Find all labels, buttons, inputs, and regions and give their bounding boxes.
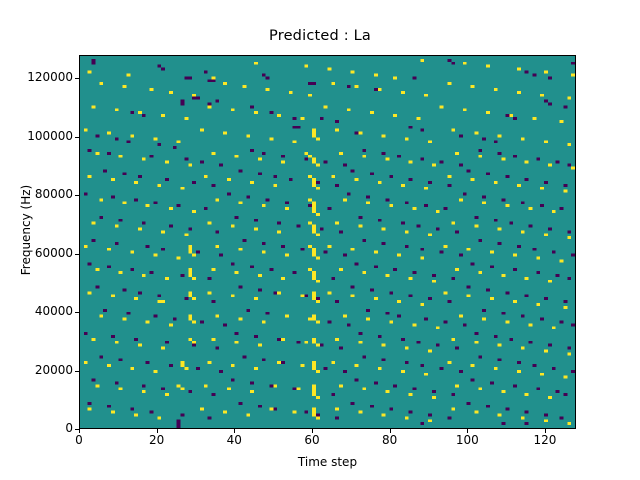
y-tick-label: 120000 <box>3 71 73 83</box>
x-tick-label: 120 <box>515 434 575 446</box>
y-tick-mark <box>75 371 79 372</box>
y-axis-label: Frequency (Hz) <box>19 70 33 390</box>
x-tick-mark <box>234 429 235 433</box>
y-tick-label: 80000 <box>3 188 73 200</box>
x-tick-label: 100 <box>437 434 497 446</box>
x-tick-label: 40 <box>204 434 264 446</box>
x-tick-label: 0 <box>49 434 109 446</box>
x-tick-label: 80 <box>360 434 420 446</box>
x-tick-mark <box>312 429 313 433</box>
y-tick-label: 40000 <box>3 305 73 317</box>
x-tick-mark <box>79 429 80 433</box>
x-tick-mark <box>390 429 391 433</box>
heatmap-image[interactable] <box>80 56 575 428</box>
y-tick-mark <box>75 137 79 138</box>
y-tick-label: 20000 <box>3 364 73 376</box>
x-tick-label: 60 <box>282 434 342 446</box>
x-tick-mark <box>467 429 468 433</box>
chart-title: Predicted : La <box>0 28 640 44</box>
heatmap-axes[interactable] <box>79 55 576 429</box>
y-tick-mark <box>75 195 79 196</box>
y-tick-label: 100000 <box>3 130 73 142</box>
x-tick-mark <box>545 429 546 433</box>
y-tick-label: 0 <box>3 422 73 434</box>
y-tick-label: 60000 <box>3 247 73 259</box>
y-tick-mark <box>75 312 79 313</box>
figure-canvas: Predicted : La 0200004000060000800001000… <box>0 0 640 480</box>
x-axis-label: Time step <box>79 455 576 469</box>
x-tick-label: 20 <box>127 434 187 446</box>
y-tick-mark <box>75 254 79 255</box>
y-tick-mark <box>75 78 79 79</box>
x-tick-mark <box>157 429 158 433</box>
